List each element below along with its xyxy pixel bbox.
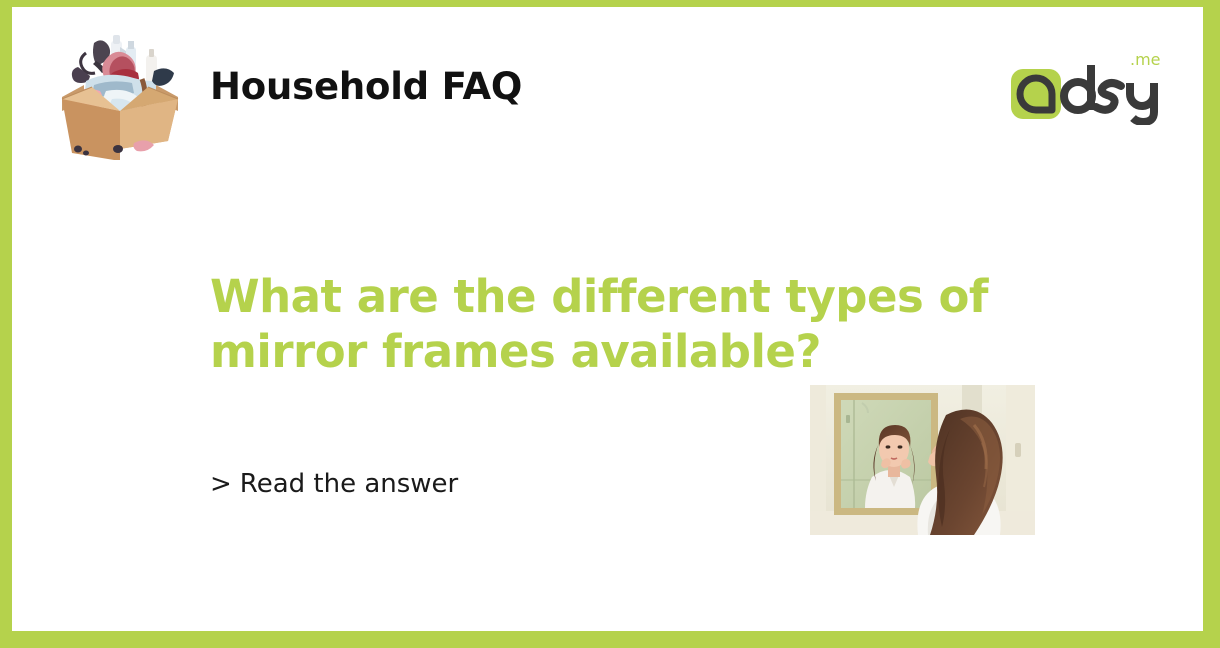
adsy-logo-icon: .me: [999, 47, 1164, 125]
chevron-right-icon: >: [210, 469, 232, 499]
faq-card: Household FAQ .me: [0, 0, 1220, 648]
read-the-answer-link[interactable]: >Read the answer: [210, 469, 458, 499]
mirror-photo-image: [810, 385, 1035, 535]
page-title: Household FAQ: [210, 65, 522, 108]
cardboard-box-icon: [50, 25, 190, 160]
read-the-answer-label: Read the answer: [240, 469, 458, 499]
cardboard-box-illustration: [50, 25, 190, 160]
card-inner: Household FAQ .me: [12, 7, 1203, 631]
logo-tld-text: .me: [1130, 50, 1161, 69]
article-thumbnail[interactable]: Woman looking at her reflection in a woo…: [810, 385, 1035, 535]
header: Household FAQ .me: [12, 7, 1203, 167]
adsy-logo[interactable]: .me adsy.me: [999, 47, 1164, 125]
faq-question-headline: What are the different types of mirror f…: [210, 269, 1040, 379]
